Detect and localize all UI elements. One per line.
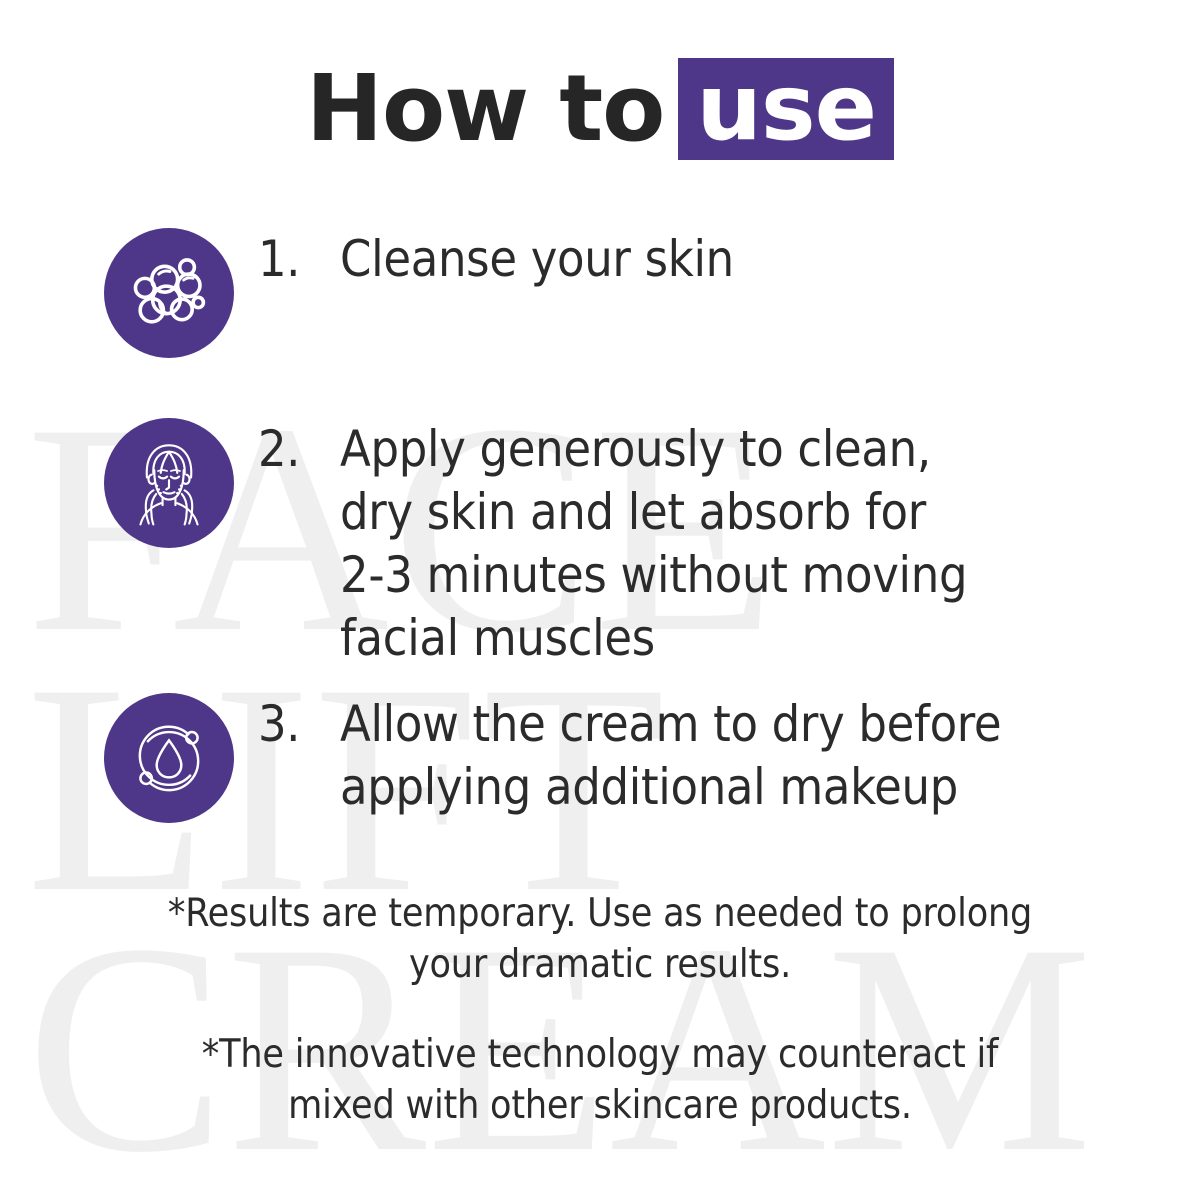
step-text: Apply generously to clean, dry skin and … <box>340 418 1088 670</box>
how-to-use-card: FACE LIFT CREAM How touse <box>0 0 1200 1200</box>
step-text: Cleanse your skin <box>340 228 1088 291</box>
page-title-plain: How to <box>306 55 664 162</box>
footnote-technology: *The innovative technology may counterac… <box>0 1029 1200 1132</box>
step-body: 1. Cleanse your skin <box>258 228 1088 291</box>
step-number: 3. <box>258 693 340 756</box>
step-number: 1. <box>258 228 340 291</box>
step-text: Allow the cream to dry before applying a… <box>340 693 1088 819</box>
footnote-results: *Results are temporary. Use as needed to… <box>0 888 1200 991</box>
bubbles-icon <box>104 228 234 358</box>
page-title-highlight: use <box>678 58 894 160</box>
step-body: 2. Apply generously to clean, dry skin a… <box>258 418 1088 670</box>
face-massage-icon <box>104 418 234 548</box>
footnotes: *Results are temporary. Use as needed to… <box>0 888 1200 1132</box>
water-drop-orbit-icon <box>104 693 234 823</box>
step-body: 3. Allow the cream to dry before applyin… <box>258 693 1088 819</box>
step-number: 2. <box>258 418 340 481</box>
page-title: How touse <box>0 58 1200 160</box>
content-layer: How touse <box>0 0 1200 1200</box>
